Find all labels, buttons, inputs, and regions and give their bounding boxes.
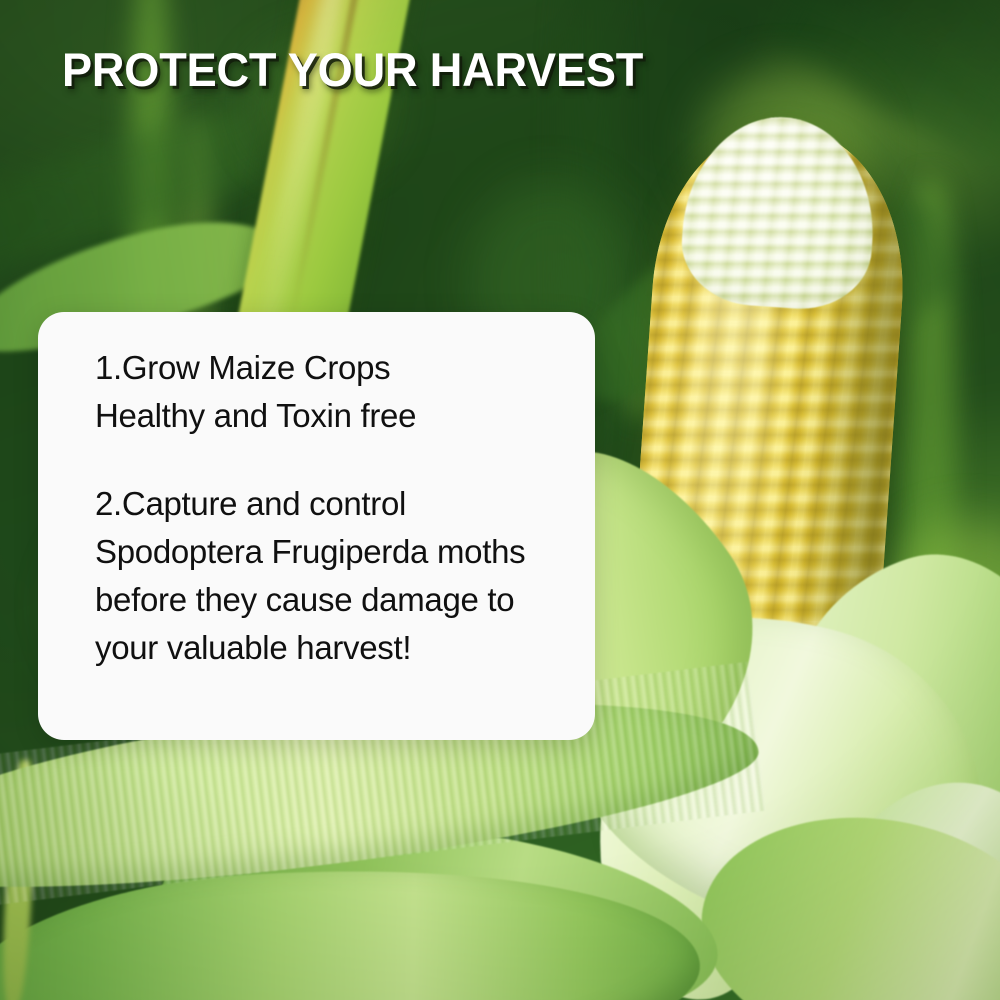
benefit-list: 1.Grow Maize Crops Healthy and Toxin fre… [95, 344, 561, 672]
corn-cob-tip-kernels [678, 111, 881, 314]
list-item-line: Spodoptera Frugiperda moths [95, 528, 561, 576]
poster: PROTECT YOUR HARVEST 1.Grow Maize Crops … [0, 0, 1000, 1000]
list-item-line: Healthy and Toxin free [95, 392, 561, 440]
info-card: 1.Grow Maize Crops Healthy and Toxin fre… [38, 312, 595, 740]
corn-cob-tip [678, 111, 881, 314]
list-item: 1.Grow Maize Crops Healthy and Toxin fre… [95, 344, 561, 440]
page-title: PROTECT YOUR HARVEST [62, 44, 643, 96]
list-item: 2.Capture and control Spodoptera Frugipe… [95, 480, 561, 672]
list-item-line: 2.Capture and control [95, 480, 561, 528]
list-item-line: your valuable harvest! [95, 624, 561, 672]
list-item-line: before they cause damage to [95, 576, 561, 624]
list-item-line: 1.Grow Maize Crops [95, 344, 561, 392]
